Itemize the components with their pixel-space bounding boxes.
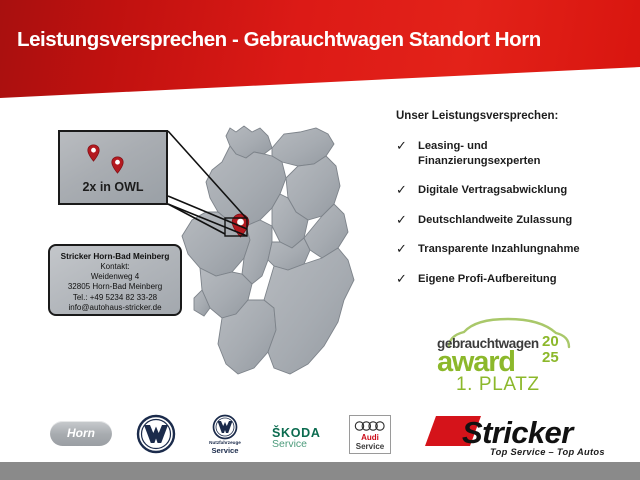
- promise-item: ✓ Digitale Vertragsabwicklung: [396, 183, 632, 198]
- audi-service-label: Service: [350, 442, 390, 451]
- stricker-wordmark: Stricker: [462, 415, 573, 451]
- address-contact-label: Kontakt:: [50, 262, 180, 272]
- audi-logo-label: Audi: [350, 433, 390, 442]
- check-icon: ✓: [396, 183, 418, 197]
- award-year: 20 25: [542, 334, 559, 365]
- promises-section: Unser Leistungsversprechen: ✓ Leasing- u…: [396, 110, 632, 301]
- map-pin-icon: [111, 156, 124, 174]
- owl-callout-label: 2x in OWL: [60, 180, 166, 194]
- stricker-tagline: Top Service – Top Autos: [490, 447, 605, 457]
- slide-canvas: Leistungsversprechen - Gebrauchtwagen St…: [0, 0, 640, 480]
- promise-label: Transparente Inzahlungnahme: [418, 242, 580, 257]
- vw-nutzfahrzeuge-logo-icon: [203, 414, 247, 442]
- address-street: Weidenweg 4: [50, 272, 180, 282]
- promises-title: Unser Leistungsversprechen:: [396, 110, 632, 122]
- audi-rings-icon: [354, 421, 388, 431]
- promise-item: ✓ Eigene Profi-Aufbereitung: [396, 272, 632, 287]
- address-email: info@autohaus-stricker.de: [50, 303, 180, 313]
- address-phone: Tel.: +49 5234 82 33-28: [50, 293, 180, 303]
- horn-logo: Horn: [50, 421, 112, 446]
- vw-nutzfahrzeuge-label: Nutzfahrzeuge: [185, 440, 265, 445]
- promise-label: Deutschlandweite Zulassung: [418, 213, 572, 228]
- promise-item: ✓ Transparente Inzahlungnahme: [396, 242, 632, 257]
- check-icon: ✓: [396, 272, 418, 286]
- promise-item: ✓ Deutschlandweite Zulassung: [396, 213, 632, 228]
- horn-logo-label: Horn: [50, 426, 112, 440]
- award-year-top: 20: [542, 334, 559, 350]
- award-year-bottom: 25: [542, 350, 559, 366]
- award-rank: 1. PLATZ: [456, 374, 540, 396]
- vw-logo-icon: [136, 414, 176, 454]
- footer-bar: [0, 462, 640, 480]
- promise-label: Eigene Profi-Aufbereitung: [418, 272, 557, 287]
- check-icon: ✓: [396, 242, 418, 256]
- address-name: Stricker Horn-Bad Meinberg: [50, 251, 180, 262]
- award-badge: gebrauchtwagen award 20 25 1. PLATZ: [432, 316, 582, 398]
- stricker-logo: Stricker Top Service – Top Autos: [424, 410, 624, 458]
- vw-service-label: Service: [185, 446, 265, 455]
- promise-label: Leasing- undFinanzierungsexperten: [418, 139, 540, 168]
- promise-item: ✓ Leasing- undFinanzierungsexperten: [396, 139, 632, 168]
- check-icon: ✓: [396, 213, 418, 227]
- owl-callout-box: 2x in OWL: [58, 130, 168, 205]
- promise-label: Digitale Vertragsabwicklung: [418, 183, 567, 198]
- germany-map: [168, 108, 380, 408]
- audi-service-logo: Audi Service: [349, 415, 391, 454]
- address-box: Stricker Horn-Bad Meinberg Kontakt: Weid…: [48, 244, 182, 316]
- map-pin-icon: [87, 144, 100, 162]
- skoda-service-label: Service: [272, 438, 307, 450]
- check-icon: ✓: [396, 139, 418, 153]
- page-title: Leistungsversprechen - Gebrauchtwagen St…: [17, 28, 627, 52]
- address-city: 32805 Horn-Bad Meinberg: [50, 282, 180, 292]
